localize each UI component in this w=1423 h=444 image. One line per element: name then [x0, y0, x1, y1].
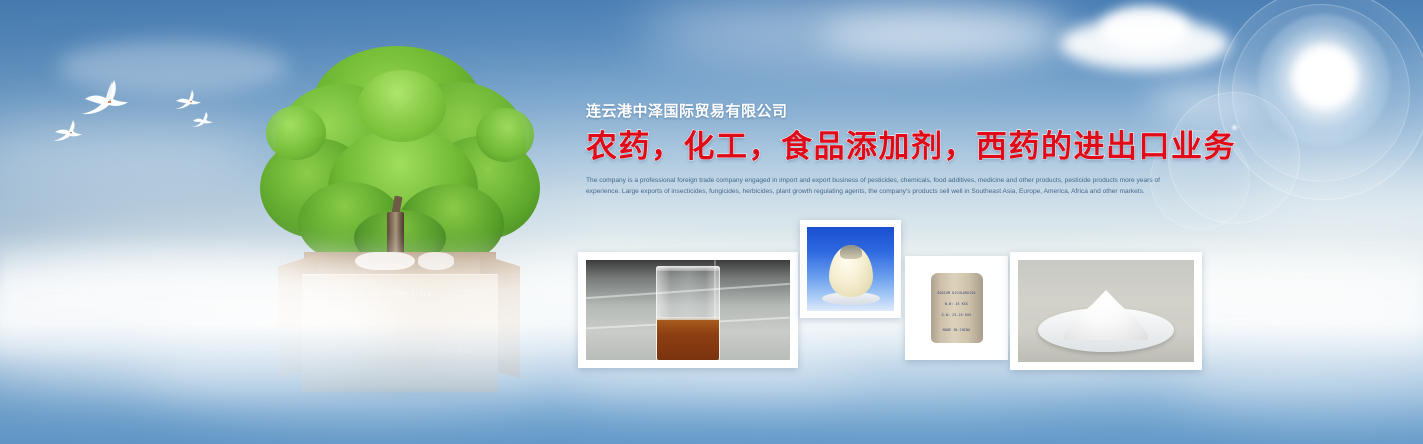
- product-photo-woven-sack[interactable]: SODIUM DICHLOROISO N.W: 25 KGS G.W: 25.2…: [905, 256, 1008, 360]
- product-photo-inner: [807, 227, 894, 311]
- cream-powder-tip: [840, 245, 862, 259]
- product-photo-cream-powder[interactable]: [800, 220, 901, 318]
- sack-text-line-3: G.W: 25.25 KGS: [937, 313, 977, 317]
- woven-sack: SODIUM DICHLOROISO N.W: 25 KGS G.W: 25.2…: [931, 273, 983, 343]
- main-headline: 农药，化工，食品添加剂，西药的进出口业务: [586, 130, 1186, 165]
- sack-text-line-1: SODIUM DICHLOROISO: [937, 291, 977, 295]
- company-description: The company is a professional foreign tr…: [586, 175, 1184, 197]
- cloud-top-right-2: [1100, 6, 1190, 50]
- product-photo-amber-liquid-vial[interactable]: [578, 252, 798, 368]
- product-photo-inner: [586, 260, 790, 360]
- sack-text-line-2: N.W: 25 KGS: [937, 302, 977, 306]
- sun-core: [1292, 44, 1358, 110]
- dove-icon-4: [190, 110, 214, 130]
- product-photo-inner: [1018, 260, 1194, 362]
- product-photo-inner: SODIUM DICHLOROISO N.W: 25 KGS G.W: 25.2…: [911, 262, 1002, 354]
- promotional-banner: Natural Bay, In Your Urban Story ithinks…: [0, 0, 1423, 444]
- product-photo-white-powder[interactable]: [1010, 252, 1202, 370]
- dove-icon-3: [51, 118, 85, 144]
- headline-text-block: 连云港中泽国际贸易有限公司 农药，化工，食品添加剂，西药的进出口业务 The c…: [586, 103, 1186, 197]
- dove-icon-2: [173, 88, 203, 112]
- glass-vial: [656, 266, 720, 360]
- cloud-top-middle-2: [820, 12, 1070, 58]
- company-name: 连云港中泽国际贸易有限公司: [586, 103, 1186, 121]
- sack-text-line-4: MADE IN CHINA: [937, 328, 977, 332]
- dove-icon-1: [76, 76, 132, 118]
- vial-rim: [656, 266, 720, 271]
- vial-amber-liquid: [657, 320, 719, 360]
